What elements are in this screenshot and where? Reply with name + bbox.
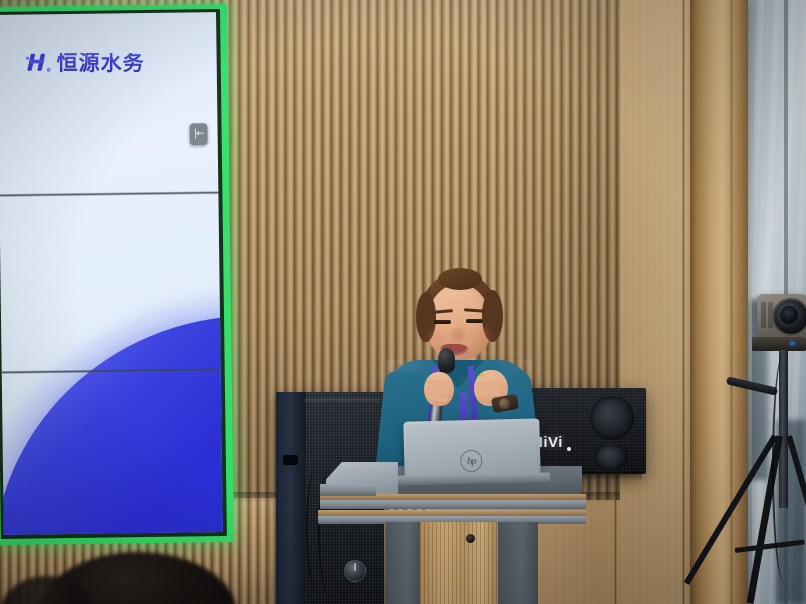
- collapse-panel-button-label: |←: [194, 129, 204, 139]
- presentation-display[interactable]: 恒源水务 |←: [0, 9, 227, 539]
- wood-column: [690, 0, 748, 604]
- microphone-capsule: [438, 348, 455, 372]
- lectern-riser: [320, 484, 376, 496]
- slide-canvas[interactable]: 恒源水务 |←: [0, 12, 223, 535]
- lectern-pedestal-left: [386, 522, 422, 604]
- presenter-nose: [452, 328, 464, 342]
- presenter-cheek-right: [472, 329, 490, 342]
- camera-status-led: [790, 342, 795, 345]
- h-monogram-icon: [26, 50, 52, 76]
- brand-logo-text: 恒源水务: [57, 52, 145, 73]
- presenter-hair-top: [438, 268, 482, 290]
- display-panel-seam-1: [0, 191, 218, 197]
- camera-cable: [772, 352, 796, 582]
- presenter-eye-right: [466, 319, 483, 323]
- hivi-tweeter: [590, 396, 634, 440]
- camera-vent-1: [761, 302, 766, 328]
- lectern-slab-upper: [320, 500, 586, 509]
- hivi-woofer: [594, 444, 628, 470]
- speaker-cabinet-side: [276, 392, 306, 604]
- hivi-brand-dot: [567, 447, 571, 451]
- wristwatch-face: [498, 397, 511, 410]
- presenter-cheek-left: [428, 330, 446, 343]
- speaker-knob[interactable]: [344, 560, 366, 582]
- speaker-top-highlight: [304, 398, 380, 402]
- wall-panel-seam-a: [682, 0, 685, 604]
- finger-ring: [480, 373, 485, 377]
- lectern-cable-grommet: [466, 534, 475, 543]
- camera-mount-plate: [752, 337, 806, 351]
- collapse-panel-button[interactable]: |←: [189, 123, 207, 145]
- lectern-pedestal-right: [498, 522, 538, 604]
- hp-logo-text: hp: [467, 455, 476, 466]
- laptop-lid[interactable]: hp: [403, 418, 540, 479]
- brand-logo: 恒源水务: [26, 50, 145, 76]
- camera-lens: [772, 298, 806, 336]
- lectern-pedestal-wood: [420, 522, 500, 604]
- presenter-eye-left: [434, 320, 451, 324]
- speaker-port: [283, 455, 298, 465]
- conference-room-photo: 恒源水务 |← HiVi: [0, 0, 806, 604]
- camera-lens-glass: [780, 306, 798, 324]
